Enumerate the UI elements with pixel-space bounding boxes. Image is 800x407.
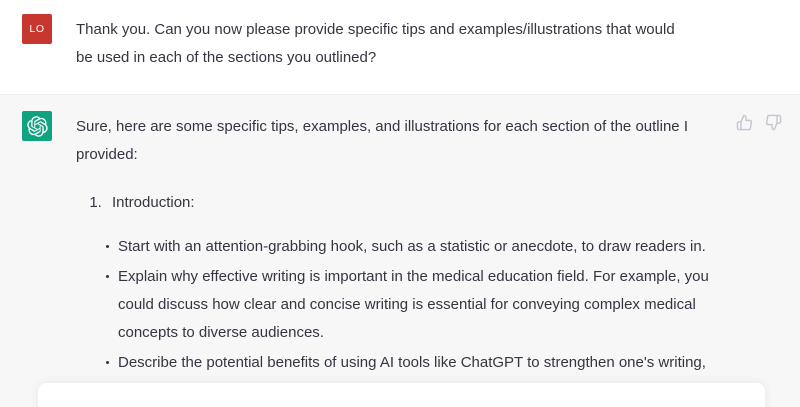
feedback-buttons — [736, 114, 782, 131]
user-avatar-column: LO — [0, 14, 76, 72]
assistant-message-content: Sure, here are some specific tips, examp… — [76, 111, 800, 407]
user-message-text: Thank you. Can you now please provide sp… — [76, 16, 692, 72]
thumbs-down-icon[interactable] — [765, 114, 782, 131]
chat-scroll-container[interactable]: LO Thank you. Can you now please provide… — [0, 0, 800, 407]
chatgpt-logo-avatar — [22, 111, 52, 141]
assistant-intro-text: Sure, here are some specific tips, examp… — [76, 113, 692, 169]
message-user: LO Thank you. Can you now please provide… — [0, 0, 800, 94]
user-message-content: Thank you. Can you now please provide sp… — [76, 14, 800, 72]
message-composer[interactable] — [38, 383, 765, 407]
list-item: Introduction: — [106, 189, 760, 217]
list-item: Explain why effective writing is importa… — [106, 263, 734, 347]
outline-ordered-list: Introduction: — [76, 189, 760, 217]
message-assistant: Sure, here are some specific tips, examp… — [0, 94, 800, 407]
tips-bullet-list: Start with an attention-grabbing hook, s… — [76, 233, 760, 405]
openai-logo-icon — [27, 116, 48, 137]
thumbs-up-icon[interactable] — [736, 114, 753, 131]
list-item: Start with an attention-grabbing hook, s… — [106, 233, 734, 261]
message-input[interactable] — [39, 384, 764, 407]
user-avatar: LO — [22, 14, 52, 44]
assistant-avatar-column — [0, 111, 76, 407]
user-avatar-initials: LO — [29, 23, 44, 35]
